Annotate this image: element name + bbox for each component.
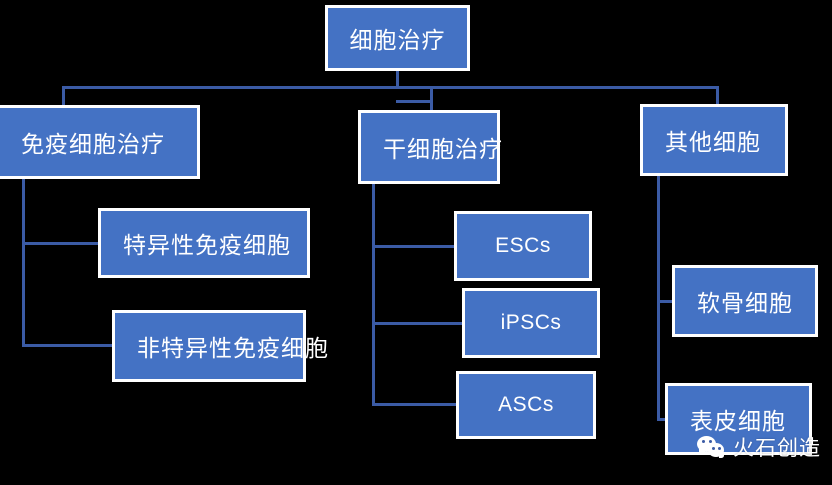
connector-stem-spine (372, 184, 375, 406)
diagram-canvas: 细胞治疗 免疫细胞治疗 干细胞治疗 其他细胞 特异性免疫细胞 非特异性免疫细胞 … (0, 0, 832, 485)
connector-immune-to-specific (22, 242, 100, 245)
wechat-icon (697, 435, 727, 459)
connector-stem-to-ascs (372, 403, 458, 406)
connector-drop-immune (62, 86, 65, 107)
node-nonspecific-immune-cells[interactable]: 非特异性免疫细胞 (112, 310, 306, 382)
watermark: 火石创造 (697, 432, 821, 462)
watermark-text: 火石创造 (733, 432, 821, 462)
node-other-cells[interactable]: 其他细胞 (640, 104, 788, 176)
node-escs[interactable]: ESCs (454, 211, 592, 281)
connector-level2-bus (62, 86, 719, 89)
node-specific-immune-cells[interactable]: 特异性免疫细胞 (98, 208, 310, 278)
node-immune-cell-therapy[interactable]: 免疫细胞治疗 (0, 105, 200, 179)
connector-immune-spine (22, 179, 25, 347)
node-stem-cell-therapy[interactable]: 干细胞治疗 (358, 110, 500, 184)
node-ipscs[interactable]: iPSCs (462, 288, 600, 358)
node-chondrocytes[interactable]: 软骨细胞 (672, 265, 818, 337)
connector-drop-other (716, 86, 719, 106)
connector-jog-stem (396, 100, 433, 103)
connector-immune-to-nonspecific (22, 344, 114, 347)
connector-stem-to-ipscs (372, 322, 464, 325)
node-ascs[interactable]: ASCs (456, 371, 596, 439)
connector-other-spine (657, 176, 660, 420)
connector-stem-to-escs (372, 245, 456, 248)
node-cell-therapy[interactable]: 细胞治疗 (325, 5, 470, 71)
